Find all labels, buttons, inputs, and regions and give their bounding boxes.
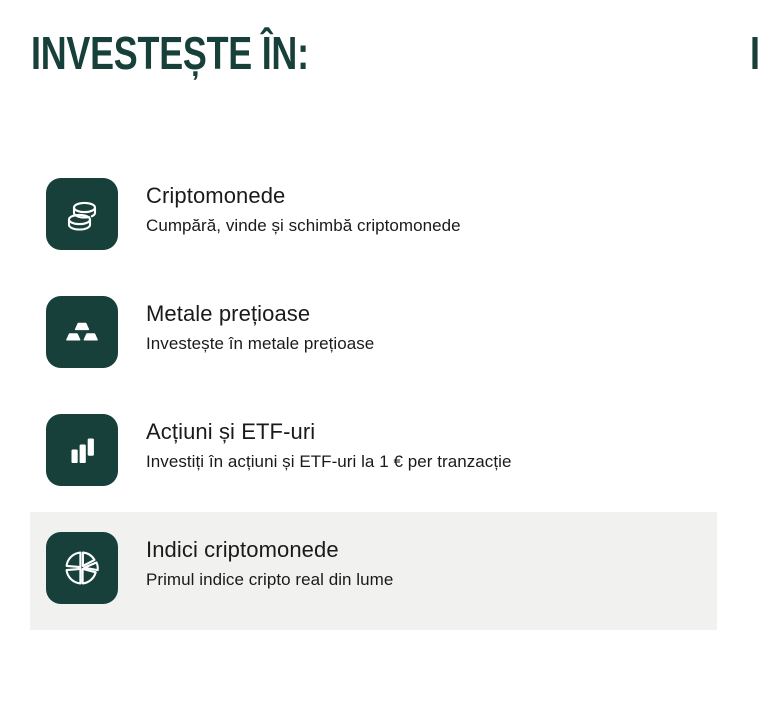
menu-item-actiuni-etf[interactable]: Acțiuni și ETF-uri Investiți în acțiuni … bbox=[0, 394, 758, 512]
invest-menu-panel: INVESTEȘTE ÎN: I Criptomonede Cumpără, v… bbox=[0, 0, 758, 716]
menu-item-subtitle: Investește în metale prețioase bbox=[146, 333, 374, 355]
pie-index-icon bbox=[46, 532, 118, 604]
menu-item-subtitle: Cumpără, vinde și schimbă criptomonede bbox=[146, 215, 461, 237]
coins-stack-icon bbox=[46, 178, 118, 250]
menu-item-title: Metale prețioase bbox=[146, 299, 374, 328]
menu-item-text: Metale prețioase Investește în metale pr… bbox=[146, 296, 374, 355]
menu-item-title: Acțiuni și ETF-uri bbox=[146, 417, 511, 446]
menu-item-text: Criptomonede Cumpără, vinde și schimbă c… bbox=[146, 178, 461, 237]
bar-chart-icon bbox=[46, 414, 118, 486]
menu-item-text: Acțiuni și ETF-uri Investiți în acțiuni … bbox=[146, 414, 511, 473]
invest-menu-list: Criptomonede Cumpără, vinde și schimbă c… bbox=[0, 158, 758, 630]
next-column-heading-fragment: I bbox=[750, 29, 758, 77]
menu-item-title: Criptomonede bbox=[146, 181, 461, 210]
menu-item-indici-criptomonede[interactable]: Indici criptomonede Primul indice cripto… bbox=[0, 512, 758, 630]
page-title: INVESTEȘTE ÎN: bbox=[31, 29, 309, 77]
menu-item-criptomonede[interactable]: Criptomonede Cumpără, vinde și schimbă c… bbox=[0, 158, 758, 276]
menu-item-subtitle: Investiți în acțiuni și ETF-uri la 1 € p… bbox=[146, 451, 511, 473]
menu-item-subtitle: Primul indice cripto real din lume bbox=[146, 569, 393, 591]
gold-bars-icon bbox=[46, 296, 118, 368]
menu-item-title: Indici criptomonede bbox=[146, 535, 393, 564]
menu-item-metale-pretioase[interactable]: Metale prețioase Investește în metale pr… bbox=[0, 276, 758, 394]
menu-item-text: Indici criptomonede Primul indice cripto… bbox=[146, 532, 393, 591]
